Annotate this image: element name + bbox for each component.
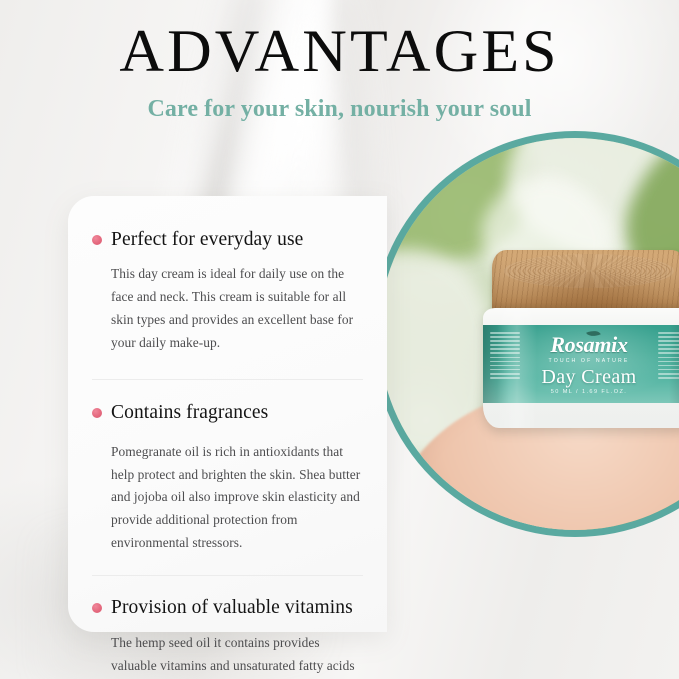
jar-label: Rosamix TOUCH OF NATURE Day Cream 50 ML … bbox=[483, 325, 679, 403]
brand-name: Rosamix bbox=[483, 334, 679, 356]
advantage-title: Provision of valuable vitamins bbox=[111, 596, 353, 620]
jar-lid bbox=[492, 250, 679, 314]
advantage-title: Contains fragrances bbox=[111, 401, 268, 425]
page-title: ADVANTAGES bbox=[0, 0, 679, 82]
advantage-section: Perfect for everyday use This day cream … bbox=[92, 196, 363, 379]
product-name: Day Cream bbox=[483, 366, 679, 389]
advantage-heading: Perfect for everyday use bbox=[92, 228, 363, 252]
cream-jar: Rosamix TOUCH OF NATURE Day Cream 50 ML … bbox=[483, 250, 679, 428]
advantage-body: Pomegranate oil is rich in antioxidants … bbox=[111, 441, 363, 555]
advantages-card: Perfect for everyday use This day cream … bbox=[68, 196, 387, 632]
advantage-heading: Provision of valuable vitamins bbox=[92, 596, 363, 620]
page-subtitle: Care for your skin, nourish your soul bbox=[0, 82, 679, 123]
jar-brand-block: Rosamix TOUCH OF NATURE bbox=[483, 334, 679, 364]
product-photo: Rosamix TOUCH OF NATURE Day Cream 50 ML … bbox=[379, 138, 679, 530]
jar-body: Rosamix TOUCH OF NATURE Day Cream 50 ML … bbox=[483, 308, 679, 428]
bullet-dot-icon bbox=[92, 603, 102, 613]
advantage-section: Contains fragrances Pomegranate oil is r… bbox=[92, 379, 363, 575]
advantage-body: This day cream is ideal for daily use on… bbox=[111, 263, 363, 354]
bullet-dot-icon bbox=[92, 408, 102, 418]
advantage-title: Perfect for everyday use bbox=[111, 228, 303, 252]
advantage-heading: Contains fragrances bbox=[92, 401, 363, 425]
brand-tagline: TOUCH OF NATURE bbox=[483, 358, 679, 364]
advantage-body: The hemp seed oil it contains provides v… bbox=[111, 632, 363, 679]
product-photo-circle: Rosamix TOUCH OF NATURE Day Cream 50 ML … bbox=[372, 131, 679, 537]
advantage-section: Provision of valuable vitamins The hemp … bbox=[92, 575, 363, 679]
product-size: 50 ML / 1.69 FL.OZ. bbox=[483, 389, 679, 395]
bullet-dot-icon bbox=[92, 235, 102, 245]
header: ADVANTAGES Care for your skin, nourish y… bbox=[0, 0, 679, 123]
